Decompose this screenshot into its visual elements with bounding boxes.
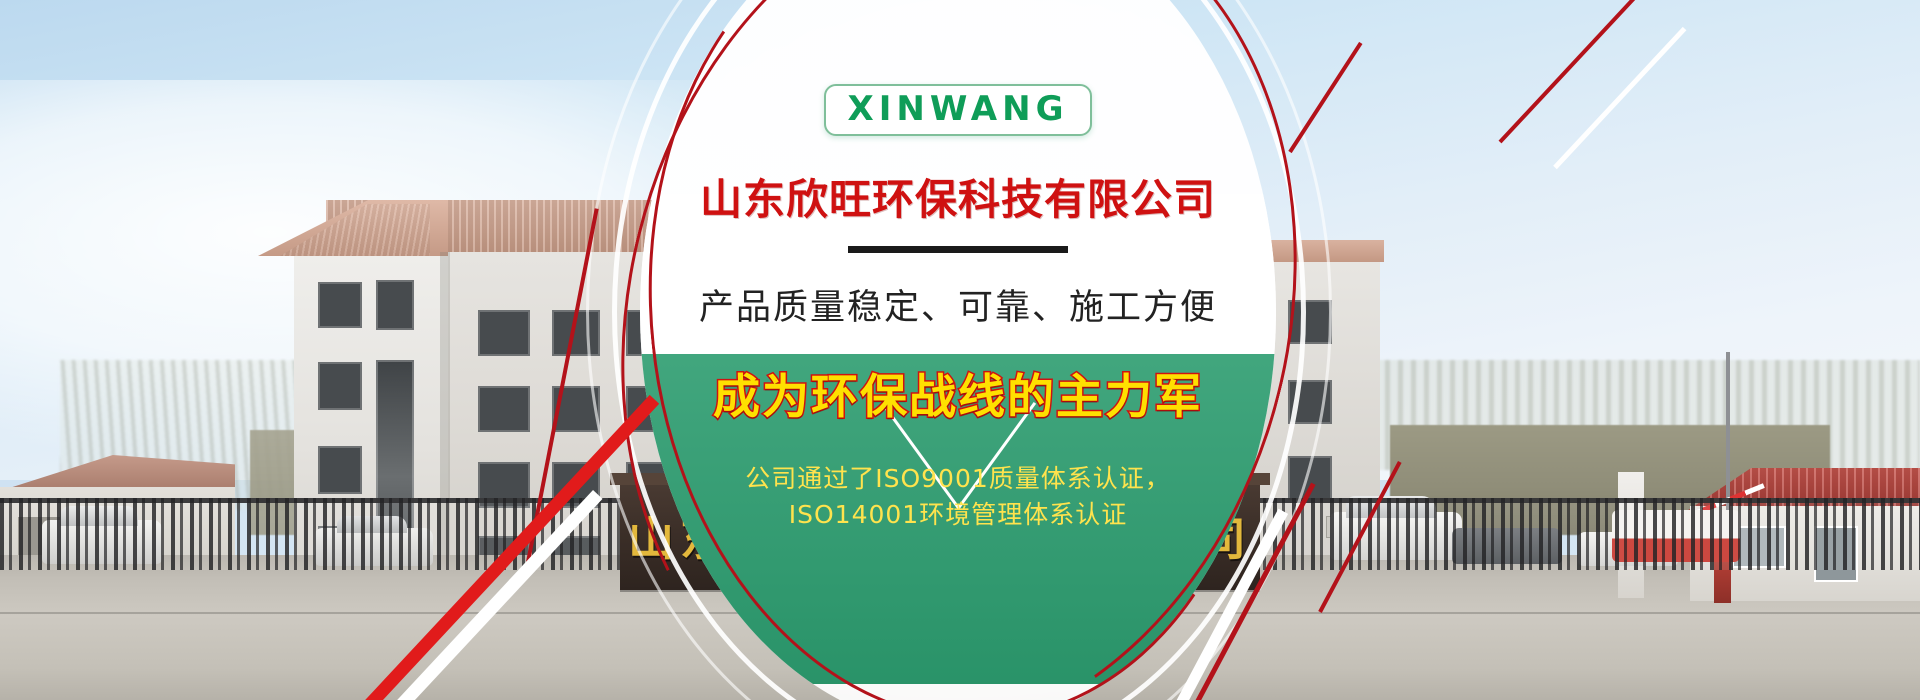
banner-content: XINWANG 山东欣旺环保科技有限公司 产品质量稳定、可靠、施工方便 成为环保… — [640, 0, 1276, 700]
slogan-text: 产品质量稳定、可靠、施工方便 — [640, 279, 1276, 330]
certification-line-1: 公司通过了ISO9001质量体系认证， — [640, 461, 1276, 497]
low-building-roof — [0, 455, 235, 491]
window — [376, 280, 414, 330]
brand-logo-text: XINWANG — [848, 92, 1069, 126]
window — [318, 446, 362, 494]
building-roof-hip-texture — [280, 204, 430, 256]
hero-banner: 山东欣旺环保科技有限公司 XINWANG 山东欣旺环保科技有限公司 产品质量稳定… — [0, 0, 1920, 700]
headline-text: 成为环保战线的主力军 — [640, 358, 1276, 427]
window — [478, 310, 530, 356]
window — [318, 362, 362, 410]
title-divider — [848, 246, 1068, 253]
certification-line-2: ISO14001环境管理体系认证 — [640, 497, 1276, 533]
certification-block: 公司通过了ISO9001质量体系认证， ISO14001环境管理体系认证 — [640, 461, 1276, 534]
window — [478, 386, 530, 432]
brand-logo[interactable]: XINWANG — [824, 84, 1093, 136]
company-name: 山东欣旺环保科技有限公司 — [640, 166, 1276, 227]
window — [318, 282, 362, 328]
